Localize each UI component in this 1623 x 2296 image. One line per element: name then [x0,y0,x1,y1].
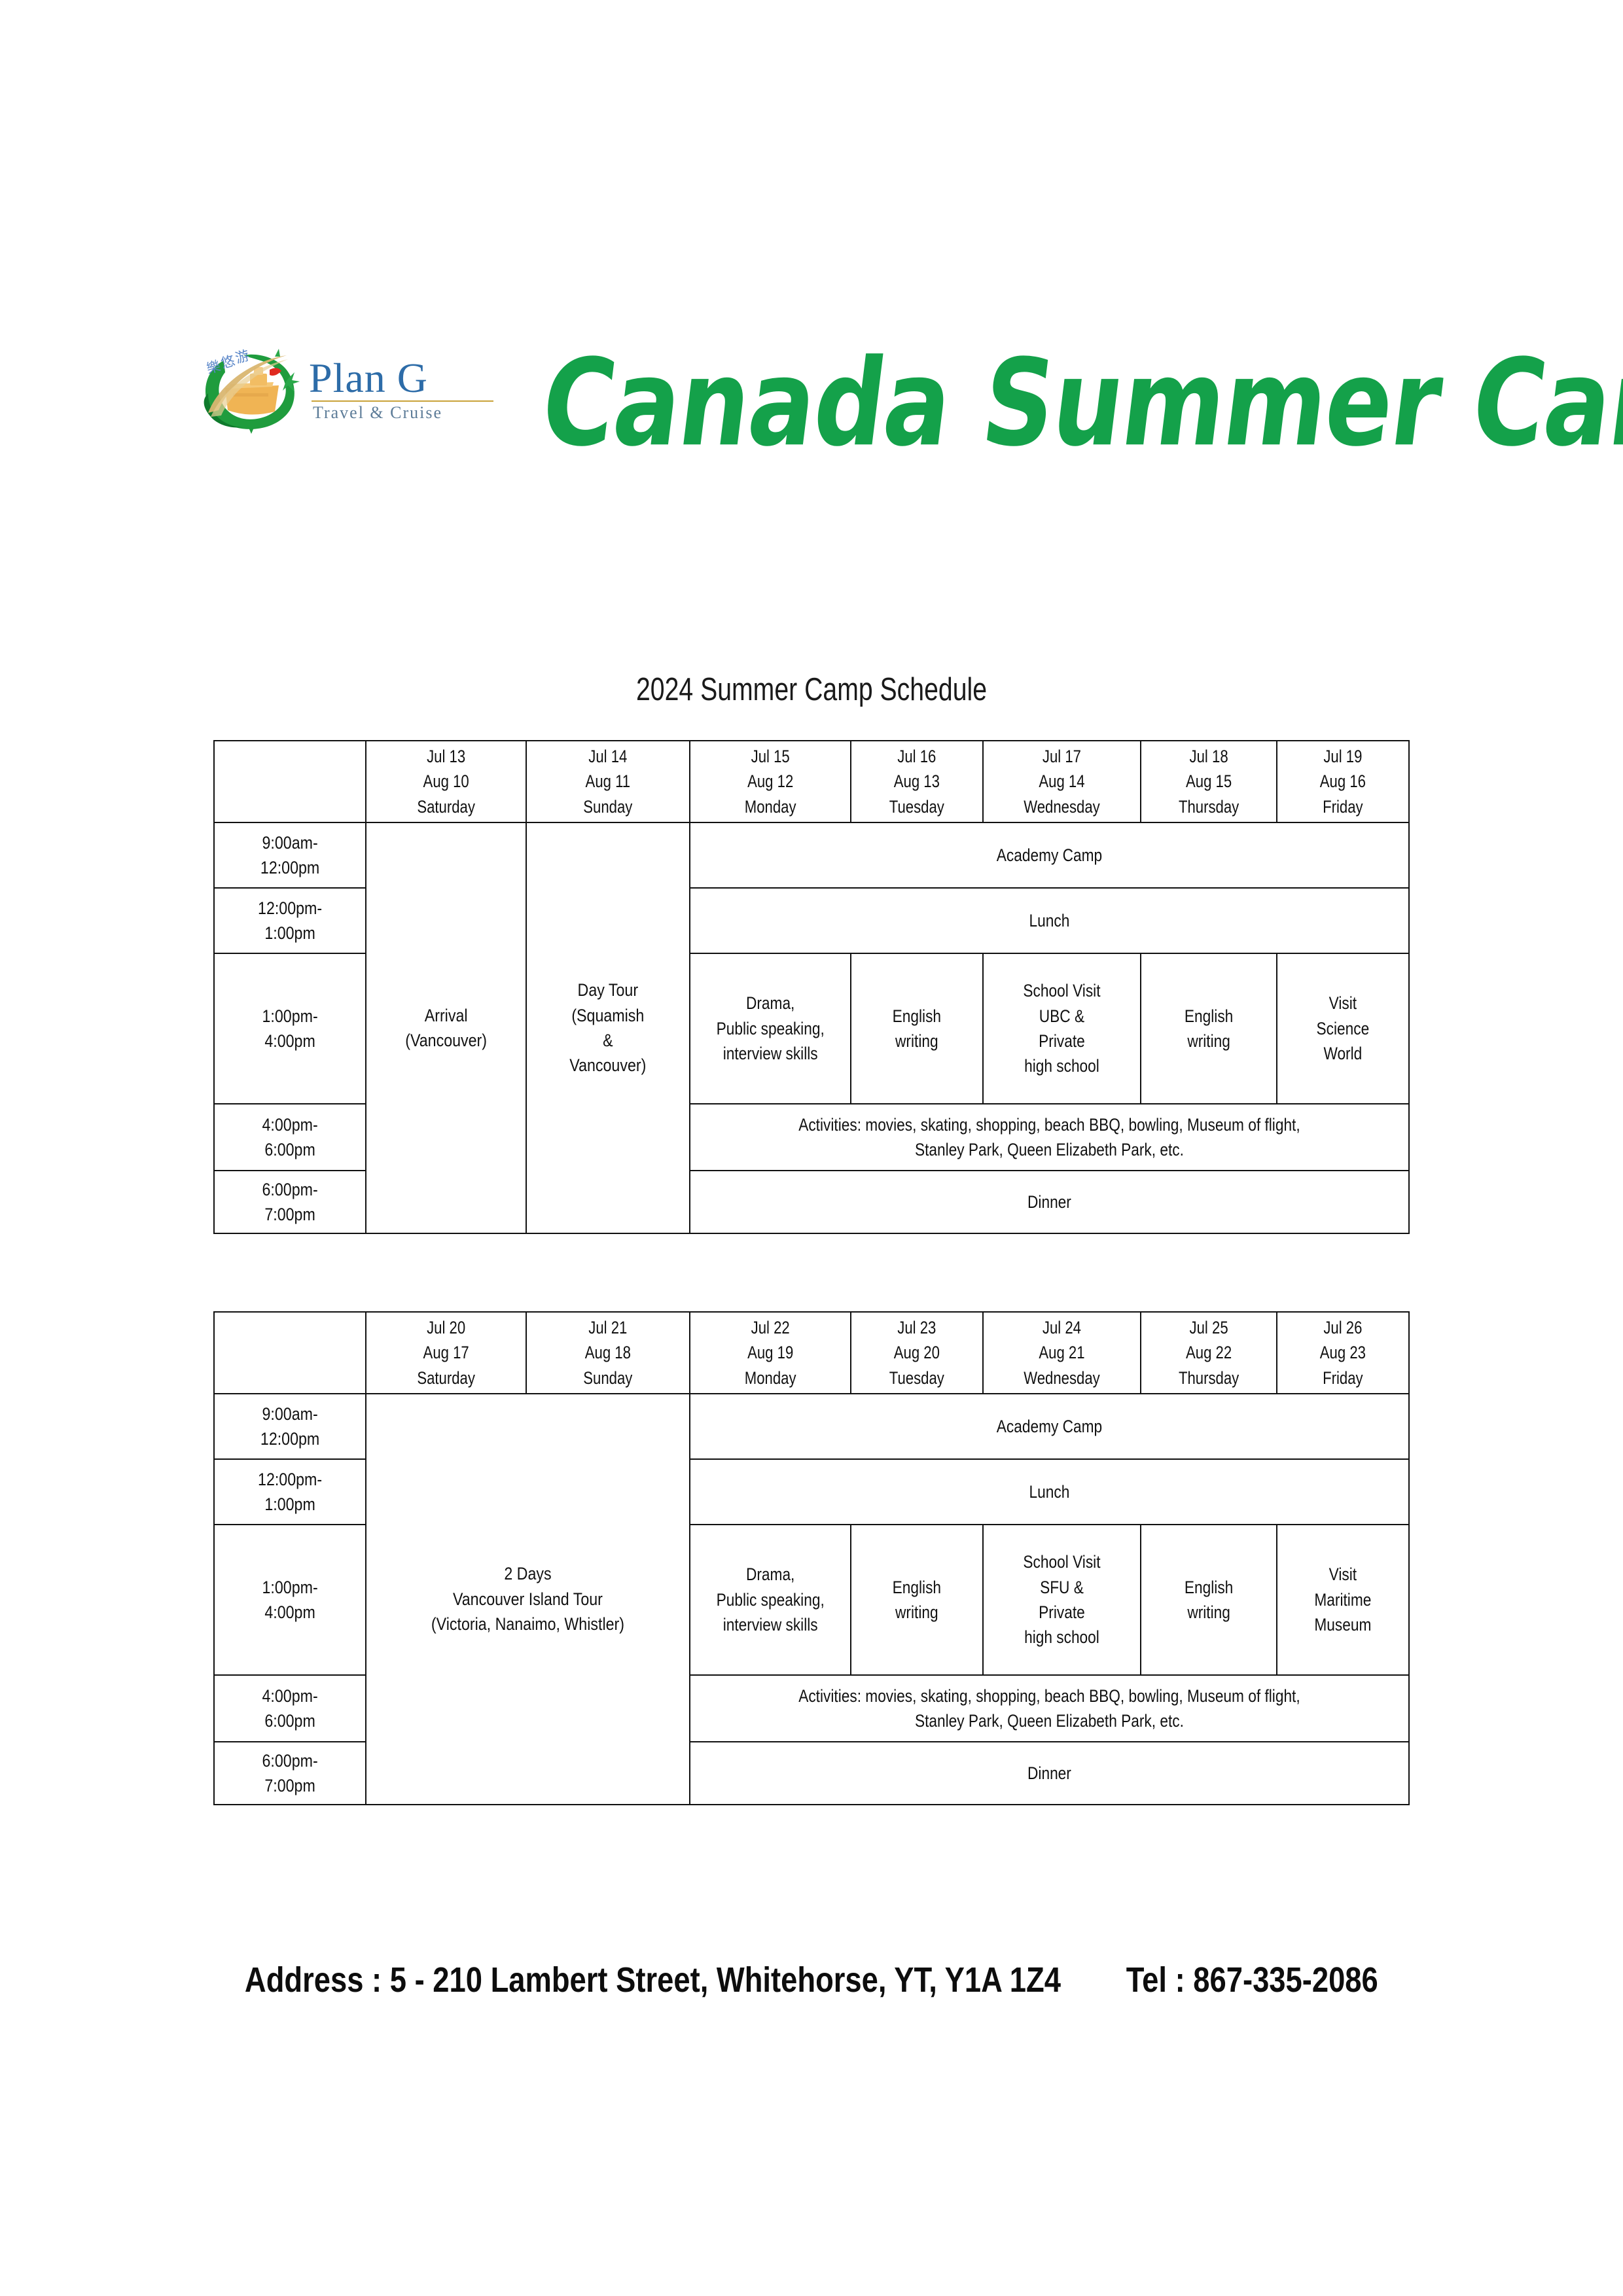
day-header-monday: Jul 15 Aug 12 Monday [690,741,851,822]
table-header-row: Jul 13 Aug 10 Saturday Jul 14 Aug 11 Sun… [214,741,1409,822]
day-header-friday: Jul 26 Aug 23 Friday [1277,1312,1409,1394]
afternoon-cell-wednesday: School Visit UBC & Private high school [983,953,1141,1104]
document-header: 樂 悠 游 Plan G Travel & Cruise Canada Summ… [0,311,1623,586]
time-slot-activities: 4:00pm- 6:00pm [214,1104,366,1171]
afternoon-cell-friday: Visit Science World [1277,953,1409,1104]
afternoon-cell-tuesday: English writing [851,1525,983,1675]
dinner-cell: Dinner [690,1171,1409,1233]
day-header-tuesday: Jul 23 Aug 20 Tuesday [851,1312,983,1394]
afternoon-cell-monday: Drama, Public speaking, interview skills [690,953,851,1104]
footer-telephone: Tel : 867-335-2086 [1126,1960,1378,2000]
day-header-thursday: Jul 25 Aug 22 Thursday [1141,1312,1277,1394]
day-header-monday: Jul 22 Aug 19 Monday [690,1312,851,1394]
day-header-saturday: Jul 13 Aug 10 Saturday [366,741,526,822]
footer-inner: Address : 5 - 210 Lambert Street, Whiteh… [245,1960,1378,2000]
afternoon-cell-thursday: English writing [1141,953,1277,1104]
day-header-wednesday: Jul 17 Aug 14 Wednesday [983,741,1141,822]
weekend-cell-island-tour: 2 Days Vancouver Island Tour (Victoria, … [366,1394,690,1805]
table-header-row: Jul 20 Aug 17 Saturday Jul 21 Aug 18 Sun… [214,1312,1409,1394]
activities-cell: Activities: movies, skating, shopping, b… [690,1675,1409,1742]
afternoon-cell-friday: Visit Maritime Museum [1277,1525,1409,1675]
day-header-saturday: Jul 20 Aug 17 Saturday [366,1312,526,1394]
schedule-table-week-2: Jul 20 Aug 17 Saturday Jul 21 Aug 18 Sun… [213,1311,1410,1805]
day-header-tuesday: Jul 16 Aug 13 Tuesday [851,741,983,822]
schedule-table-week-1: Jul 13 Aug 10 Saturday Jul 14 Aug 11 Sun… [213,740,1410,1234]
contact-footer: Address : 5 - 210 Lambert Street, Whiteh… [0,1960,1623,2000]
company-logo: 樂 悠 游 Plan G Travel & Cruise [196,330,497,432]
time-slot-morning: 9:00am- 12:00pm [214,1394,366,1459]
time-slot-morning: 9:00am- 12:00pm [214,822,366,888]
time-slot-afternoon: 1:00pm- 4:00pm [214,953,366,1104]
time-slot-lunch: 12:00pm- 1:00pm [214,888,366,953]
time-slot-dinner: 6:00pm- 7:00pm [214,1171,366,1233]
lunch-cell: Lunch [690,888,1409,953]
dinner-cell: Dinner [690,1742,1409,1805]
morning-academy-camp-cell: Academy Camp [690,822,1409,888]
plan-g-emblem-icon: 樂 悠 游 [196,345,304,436]
afternoon-cell-monday: Drama, Public speaking, interview skills [690,1525,851,1675]
time-slot-afternoon: 1:00pm- 4:00pm [214,1525,366,1675]
afternoon-cell-tuesday: English writing [851,953,983,1104]
svg-text:游: 游 [234,347,251,366]
afternoon-cell-thursday: English writing [1141,1525,1277,1675]
weekend-cell-saturday: Arrival (Vancouver) [366,822,526,1233]
brand-tagline: Travel & Cruise [309,403,499,423]
day-header-sunday: Jul 14 Aug 11 Sunday [526,741,690,822]
activities-cell: Activities: movies, skating, shopping, b… [690,1104,1409,1171]
day-header-wednesday: Jul 24 Aug 21 Wednesday [983,1312,1141,1394]
brand-wordmark: Plan G Travel & Cruise [309,358,499,423]
page-title: Canada Summer Camp [533,324,1371,491]
time-slot-dinner: 6:00pm- 7:00pm [214,1742,366,1805]
morning-academy-camp-cell: Academy Camp [690,1394,1409,1459]
afternoon-cell-wednesday: School Visit SFU & Private high school [983,1525,1141,1675]
header-corner-blank [214,1312,366,1394]
header-corner-blank [214,741,366,822]
footer-address: Address : 5 - 210 Lambert Street, Whiteh… [245,1960,1061,2000]
day-header-sunday: Jul 21 Aug 18 Sunday [526,1312,690,1394]
table-row: 9:00am- 12:00pm Arrival (Vancouver) Day … [214,822,1409,888]
table-row: 9:00am- 12:00pm 2 Days Vancouver Island … [214,1394,1409,1459]
lunch-cell: Lunch [690,1459,1409,1525]
day-header-thursday: Jul 18 Aug 15 Thursday [1141,741,1277,822]
time-slot-activities: 4:00pm- 6:00pm [214,1675,366,1742]
weekend-cell-sunday: Day Tour (Squamish & Vancouver) [526,822,690,1233]
day-header-friday: Jul 19 Aug 16 Friday [1277,741,1409,822]
brand-name: Plan G [309,358,499,399]
schedule-subtitle: 2024 Summer Camp Schedule [162,671,1461,708]
time-slot-lunch: 12:00pm- 1:00pm [214,1459,366,1525]
